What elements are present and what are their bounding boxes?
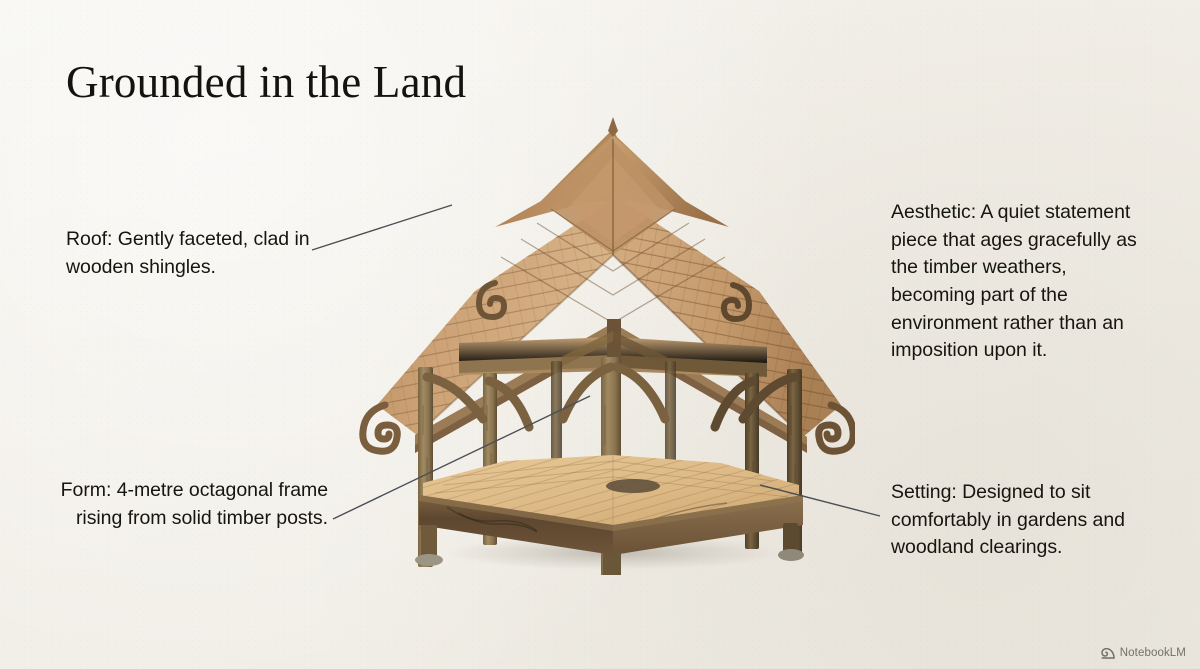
annotation-aesthetic: Aesthetic: A quiet statement piece that … <box>891 199 1153 365</box>
annotation-setting: Setting: Designed to sit comfortably in … <box>891 479 1153 562</box>
notebooklm-spiral-icon <box>1101 647 1115 659</box>
annotation-roof: Roof: Gently faceted, clad in wooden shi… <box>66 226 328 281</box>
annotation-form: Form: 4-metre octagonal frame rising fro… <box>60 477 328 532</box>
slide-canvas: Grounded in the Land <box>0 0 1200 669</box>
notebooklm-label: NotebookLM <box>1120 647 1186 659</box>
gazebo-illustration <box>355 105 855 575</box>
page-title: Grounded in the Land <box>66 58 466 108</box>
notebooklm-watermark: NotebookLM <box>1101 647 1186 659</box>
